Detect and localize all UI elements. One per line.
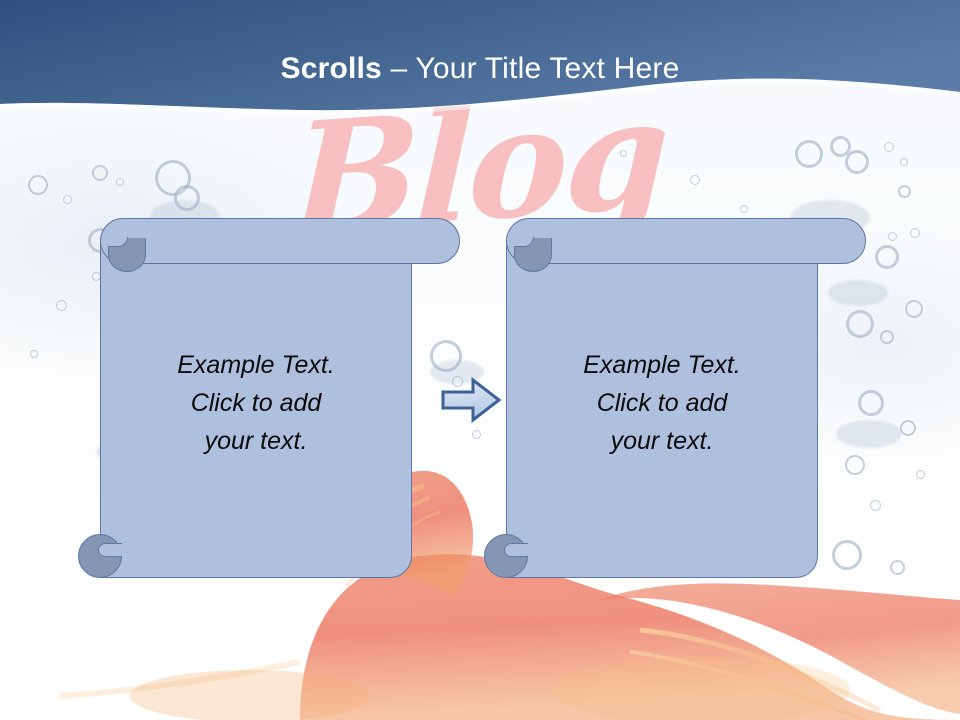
scroll-shape-left[interactable]: Example Text.Click to addyour text. bbox=[100, 218, 460, 584]
slide-canvas: Blog Scrolls – Your Title Text Here Exam… bbox=[0, 0, 960, 720]
scroll-shape-right[interactable]: Example Text.Click to addyour text. bbox=[506, 218, 866, 584]
bubble-icon bbox=[900, 420, 916, 436]
bubble-icon bbox=[910, 228, 920, 238]
scroll-text-line: your text. bbox=[100, 422, 412, 460]
bubble-icon bbox=[888, 232, 897, 241]
scroll-text-left[interactable]: Example Text.Click to addyour text. bbox=[100, 346, 412, 460]
scroll-text-line: your text. bbox=[506, 422, 818, 460]
bubble-icon bbox=[92, 165, 108, 181]
bubble-icon bbox=[116, 178, 124, 186]
slide-title: Scrolls – Your Title Text Here bbox=[0, 0, 960, 86]
bubble-icon bbox=[890, 560, 905, 575]
scroll-text-line: Example Text. bbox=[100, 346, 412, 384]
bubble-icon bbox=[795, 140, 823, 168]
bubble-icon bbox=[898, 185, 911, 198]
scroll-text-line: Example Text. bbox=[506, 346, 818, 384]
bubble-icon bbox=[875, 245, 899, 269]
scroll-curl-top-right-icon bbox=[514, 238, 552, 272]
scroll-top-bar-left bbox=[100, 218, 460, 264]
scroll-curl-top-left-icon bbox=[108, 238, 146, 272]
bubble-icon bbox=[620, 150, 627, 157]
title-banner: Scrolls – Your Title Text Here bbox=[0, 0, 960, 130]
bubble-icon bbox=[28, 175, 48, 195]
bubble-icon bbox=[905, 300, 923, 318]
right-arrow-icon bbox=[440, 377, 502, 423]
scroll-text-line: Click to add bbox=[100, 384, 412, 422]
bubble-icon bbox=[900, 158, 908, 166]
bubble-icon bbox=[30, 350, 38, 358]
scroll-top-bar-right bbox=[506, 218, 866, 264]
bubble-icon bbox=[56, 300, 67, 311]
bubble-icon bbox=[690, 175, 700, 185]
bubble-icon bbox=[174, 185, 200, 211]
slide-title-dash: – bbox=[382, 52, 415, 85]
bubble-icon bbox=[870, 500, 881, 511]
bubble-icon bbox=[472, 430, 481, 439]
bubble-icon bbox=[880, 330, 894, 344]
scroll-text-line: Click to add bbox=[506, 384, 818, 422]
bubble-icon bbox=[845, 150, 869, 174]
bubble-icon bbox=[916, 470, 925, 479]
scroll-text-right[interactable]: Example Text.Click to addyour text. bbox=[506, 346, 818, 460]
slide-title-bold: Scrolls bbox=[280, 52, 381, 85]
scroll-curl-bottom-left-icon bbox=[78, 534, 122, 578]
scroll-curl-bottom-right-icon bbox=[484, 534, 528, 578]
bubble-icon bbox=[884, 142, 894, 152]
bubble-icon bbox=[63, 195, 72, 204]
bubble-icon bbox=[740, 205, 748, 213]
slide-title-rest: Your Title Text Here bbox=[415, 52, 679, 85]
